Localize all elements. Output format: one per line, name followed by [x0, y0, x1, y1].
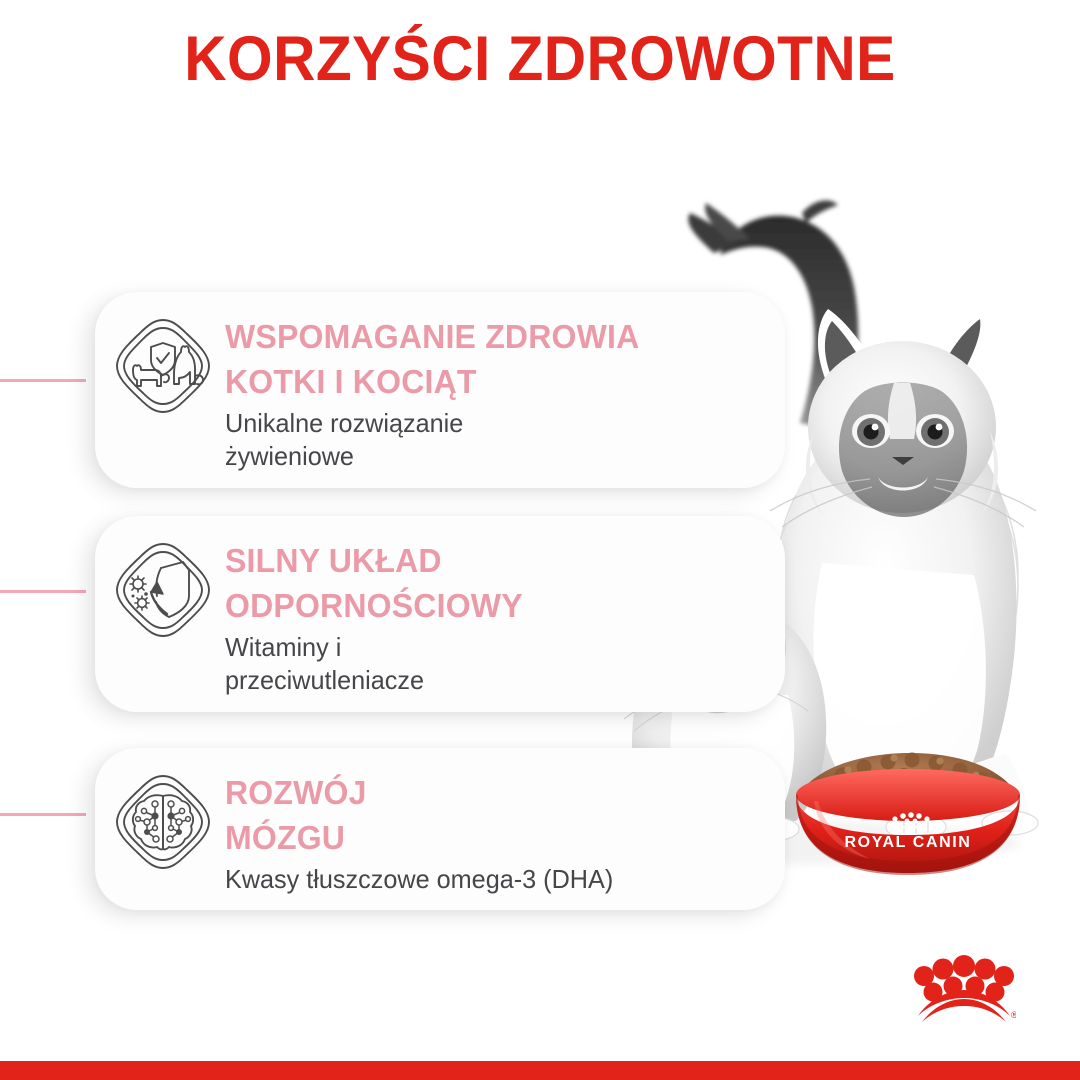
benefit-card-3[interactable]: ROZWÓJ MÓZGU Kwasy tłuszczowe omega-3 (D… — [95, 748, 785, 910]
benefit-card-3-text: ROZWÓJ MÓZGU Kwasy tłuszczowe omega-3 (D… — [225, 766, 785, 896]
benefit-subtitle-3: Kwasy tłuszczowe omega-3 (DHA) — [225, 863, 768, 896]
benefit-heading-1: WSPOMAGANIE ZDROWIA KOTKI I KOCIĄT — [225, 314, 768, 404]
poster-root: KORZYŚCI ZDROWOTNE — [0, 0, 1080, 1080]
benefit-card-2-text: SILNY UKŁAD ODPORNOŚCIOWY Witaminy i prz… — [225, 534, 785, 697]
benefit-subtitle-2: Witaminy i przeciwutleniacze — [225, 631, 768, 697]
connector-line-2 — [0, 590, 86, 593]
benefit-card-2[interactable]: SILNY UKŁAD ODPORNOŚCIOWY Witaminy i prz… — [95, 516, 785, 712]
shield-cat-kitten-icon — [101, 310, 225, 418]
benefit-heading-3: ROZWÓJ MÓZGU — [225, 770, 768, 860]
benefit-card-1-text: WSPOMAGANIE ZDROWIA KOTKI I KOCIĄT Unika… — [225, 310, 785, 473]
connector-line-1 — [0, 379, 86, 382]
svg-text:ROYAL CANIN: ROYAL CANIN — [845, 834, 972, 851]
benefit-card-1[interactable]: WSPOMAGANIE ZDROWIA KOTKI I KOCIĄT Unika… — [95, 292, 785, 488]
shield-immunity-germs-icon — [101, 534, 225, 642]
connector-line-3 — [0, 813, 86, 816]
benefit-heading-2: SILNY UKŁAD ODPORNOŚCIOWY — [225, 538, 768, 628]
logo-trademark: ® — [1011, 1010, 1016, 1020]
royal-canin-bowl: ROYAL CANIN — [796, 753, 1020, 876]
brain-neurons-icon — [101, 766, 225, 874]
benefit-subtitle-1: Unikalne rozwiązanie żywieniowe — [225, 407, 768, 473]
bottom-red-bar — [0, 1061, 1080, 1080]
page-title: KORZYŚCI ZDROWOTNE — [38, 24, 1042, 94]
royal-canin-crown-logo: ® — [912, 948, 1016, 1028]
